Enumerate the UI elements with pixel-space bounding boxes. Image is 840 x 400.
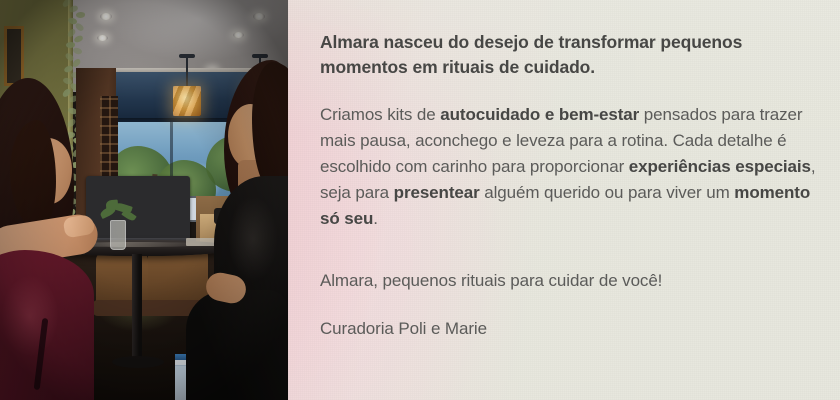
photo-scene — [0, 0, 288, 400]
about-text-panel: Almara nasceu do desejo de transformar p… — [288, 0, 840, 400]
pendant-rod — [186, 57, 188, 87]
glass-vase — [110, 220, 126, 250]
pendant-cap — [179, 54, 195, 58]
vine-leaf — [72, 46, 83, 55]
paragraph-segment: Criamos kits de — [320, 105, 440, 124]
ceiling-downlight-icon — [97, 35, 108, 41]
pendant-lamp-icon — [173, 86, 201, 116]
table-foot — [112, 356, 164, 368]
about-paragraph: Criamos kits de autocuidado e bem-estar … — [320, 102, 816, 232]
pendant-cap — [252, 54, 268, 58]
person-right-skirt — [186, 290, 288, 400]
cafe-photo — [0, 0, 288, 400]
person-right-top-highlight — [228, 196, 278, 282]
wall-picture-frame — [4, 26, 24, 86]
paragraph-segment: alguém querido ou para viver um — [480, 183, 735, 202]
ceiling-downlight-icon — [253, 13, 265, 20]
paragraph-segment-bold: autocuidado e bem-estar — [440, 105, 639, 124]
person-right-hair-front — [252, 62, 288, 190]
vine-leaf — [76, 12, 85, 19]
paragraph-segment-bold: experiências especiais — [629, 157, 811, 176]
about-copy: Almara nasceu do desejo de transformar p… — [320, 30, 816, 342]
about-headline: Almara nasceu do desejo de transformar p… — [320, 30, 816, 80]
ceiling-downlight-icon — [233, 32, 244, 38]
ceiling-downlight-icon — [100, 13, 112, 20]
person-left-dress-highlight — [2, 276, 58, 356]
vine-leaf — [73, 35, 83, 43]
about-signature: Curadoria Poli e Marie — [320, 316, 816, 342]
laptop — [86, 176, 190, 240]
about-closing-line: Almara, pequenos rituais para cuidar de … — [320, 268, 816, 294]
paragraph-segment: . — [373, 209, 378, 228]
table-stem — [132, 254, 142, 358]
about-banner: Almara nasceu do desejo de transformar p… — [0, 0, 840, 400]
paragraph-segment-bold: presentear — [394, 183, 480, 202]
